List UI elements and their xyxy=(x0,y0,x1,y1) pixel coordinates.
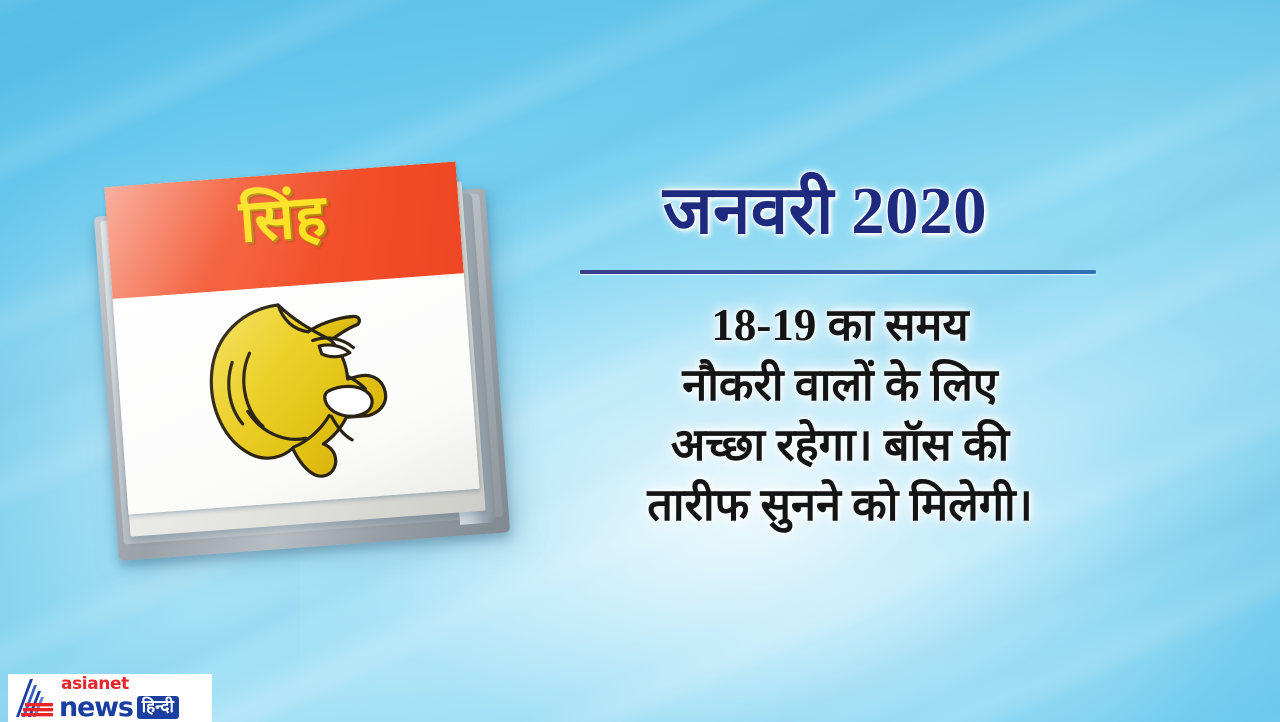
card-body-area xyxy=(113,273,480,514)
horoscope-graphic: सिंह xyxy=(0,0,1280,722)
card-printed-sheet: सिंह xyxy=(104,162,479,515)
title-divider xyxy=(580,270,1096,274)
lion-head-icon xyxy=(181,282,410,497)
asianet-triangle-icon xyxy=(11,677,57,719)
prediction-line-1: 18-19 का समय xyxy=(540,296,1140,356)
logo-brand-secondary: news xyxy=(59,694,133,721)
prediction-line-4: तारीफ सुनने को मिलेगी। xyxy=(540,476,1140,536)
zodiac-card: सिंह xyxy=(96,168,516,568)
channel-logo: asianet news हिन्दी xyxy=(8,674,212,722)
logo-brand-primary: asianet xyxy=(61,676,208,693)
prediction-line-2: नौकरी वालों के लिए xyxy=(540,356,1140,416)
logo-language-badge: हिन्दी xyxy=(137,696,179,719)
prediction-text: 18-19 का समय नौकरी वालों के लिए अच्छा रह… xyxy=(540,296,1140,535)
page-title: जनवरी 2020 xyxy=(560,176,1090,247)
logo-wordmark: asianet news हिन्दी xyxy=(59,676,208,721)
logo-second-row: news हिन्दी xyxy=(59,694,208,721)
prediction-line-3: अच्छा रहेगा। बॉस की xyxy=(540,416,1140,476)
